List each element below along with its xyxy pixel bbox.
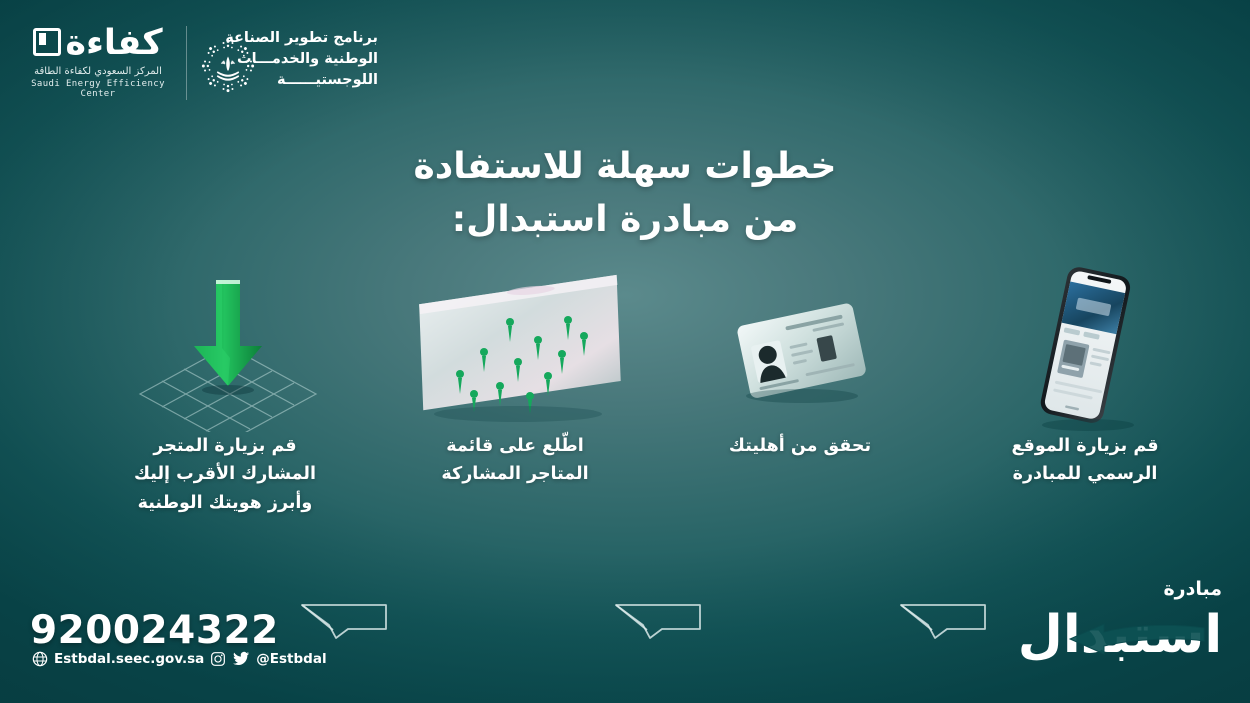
step-4-label: قم بزيارة المتجر المشارك الأقرب إليك وأب… — [80, 432, 370, 517]
kafaa-wordmark-row: كفاءة — [22, 26, 174, 61]
step-4-art — [80, 262, 370, 432]
steps-row: قم بزيارة الموقع الرسمي للمبادرة — [0, 262, 1250, 582]
step-2-label-line-1: تحقق من أهليتك — [690, 432, 910, 460]
step-2-art — [690, 262, 910, 432]
step-2-label: تحقق من أهليتك — [690, 432, 910, 460]
kafaa-english-subtitle: Saudi Energy Efficiency Center — [22, 79, 174, 99]
step-4-label-line-2: المشارك الأقرب إليك — [80, 460, 370, 488]
globe-icon — [32, 651, 48, 667]
header-divider — [186, 26, 187, 100]
step-3: اطّلع على قائمة المتاجر المشاركة — [390, 262, 640, 489]
title-line-2: من مبادرة استبدال: — [0, 193, 1250, 246]
kafaa-arabic-subtitle: المركز السعودي لكفاءة الطاقة — [22, 66, 174, 77]
page-title: خطوات سهلة للاستفادة من مبادرة استبدال: — [0, 140, 1250, 247]
step-3-art — [390, 262, 640, 432]
title-line-1: خطوات سهلة للاستفادة — [414, 146, 837, 187]
pin-arrow — [194, 280, 262, 386]
contact-row: Estbdal.seec.gov.sa @Estbdal — [32, 651, 327, 667]
step-4-label-line-1: قم بزيارة المتجر — [80, 432, 370, 460]
green-location-pin-on-grid-icon — [80, 262, 370, 432]
arrow-swoosh-icon — [1026, 622, 1216, 656]
phone-number[interactable]: 920024322 — [30, 608, 279, 653]
step-1-label-line-2: الرسمي للمبادرة — [960, 460, 1210, 488]
smartphone-website-icon — [960, 262, 1210, 432]
national-id-card-icon — [690, 262, 910, 432]
nidlp-logo: برنامج تطوير الصناعة الوطنية والخدمـــات… — [200, 24, 430, 108]
step-4: قم بزيارة المتجر المشارك الأقرب إليك وأب… — [80, 262, 370, 517]
map-sheet-with-pins-icon — [390, 262, 640, 432]
twitter-bird-icon[interactable] — [232, 651, 250, 667]
social-handle[interactable]: @Estbdal — [256, 651, 326, 667]
step-1-label: قم بزيارة الموقع الرسمي للمبادرة — [960, 432, 1210, 489]
infographic-poster: كفاءة المركز السعودي لكفاءة الطاقة Saudi… — [0, 0, 1250, 703]
kafaa-square-mark-icon — [33, 28, 61, 56]
step-2: تحقق من أهليتك — [690, 262, 910, 460]
saudi-palm-swords-dotted-star-emblem — [200, 38, 256, 94]
connector-arrow-3 — [296, 594, 392, 642]
estbdal-brand-logo: مبادرة استبدال — [1014, 578, 1224, 674]
header-logos: كفاءة المركز السعودي لكفاءة الطاقة Saudi… — [0, 22, 1250, 108]
step-1: قم بزيارة الموقع الرسمي للمبادرة — [960, 262, 1210, 489]
brand-prefix: مبادرة — [1163, 578, 1222, 600]
connector-arrow-1 — [895, 594, 991, 642]
step-3-label-line-1: اطّلع على قائمة — [390, 432, 640, 460]
website-url[interactable]: Estbdal.seec.gov.sa — [54, 651, 204, 667]
kafaa-wordmark: كفاءة — [65, 26, 162, 61]
step-1-label-line-1: قم بزيارة الموقع — [960, 432, 1210, 460]
step-4-label-line-3: وأبرز هويتك الوطنية — [80, 489, 370, 517]
kafaa-logo: كفاءة المركز السعودي لكفاءة الطاقة Saudi… — [22, 26, 174, 99]
step-3-label: اطّلع على قائمة المتاجر المشاركة — [390, 432, 640, 489]
step-1-art — [960, 262, 1210, 432]
step-3-label-line-2: المتاجر المشاركة — [390, 460, 640, 488]
instagram-icon[interactable] — [210, 651, 226, 667]
connector-arrow-2 — [610, 594, 706, 642]
